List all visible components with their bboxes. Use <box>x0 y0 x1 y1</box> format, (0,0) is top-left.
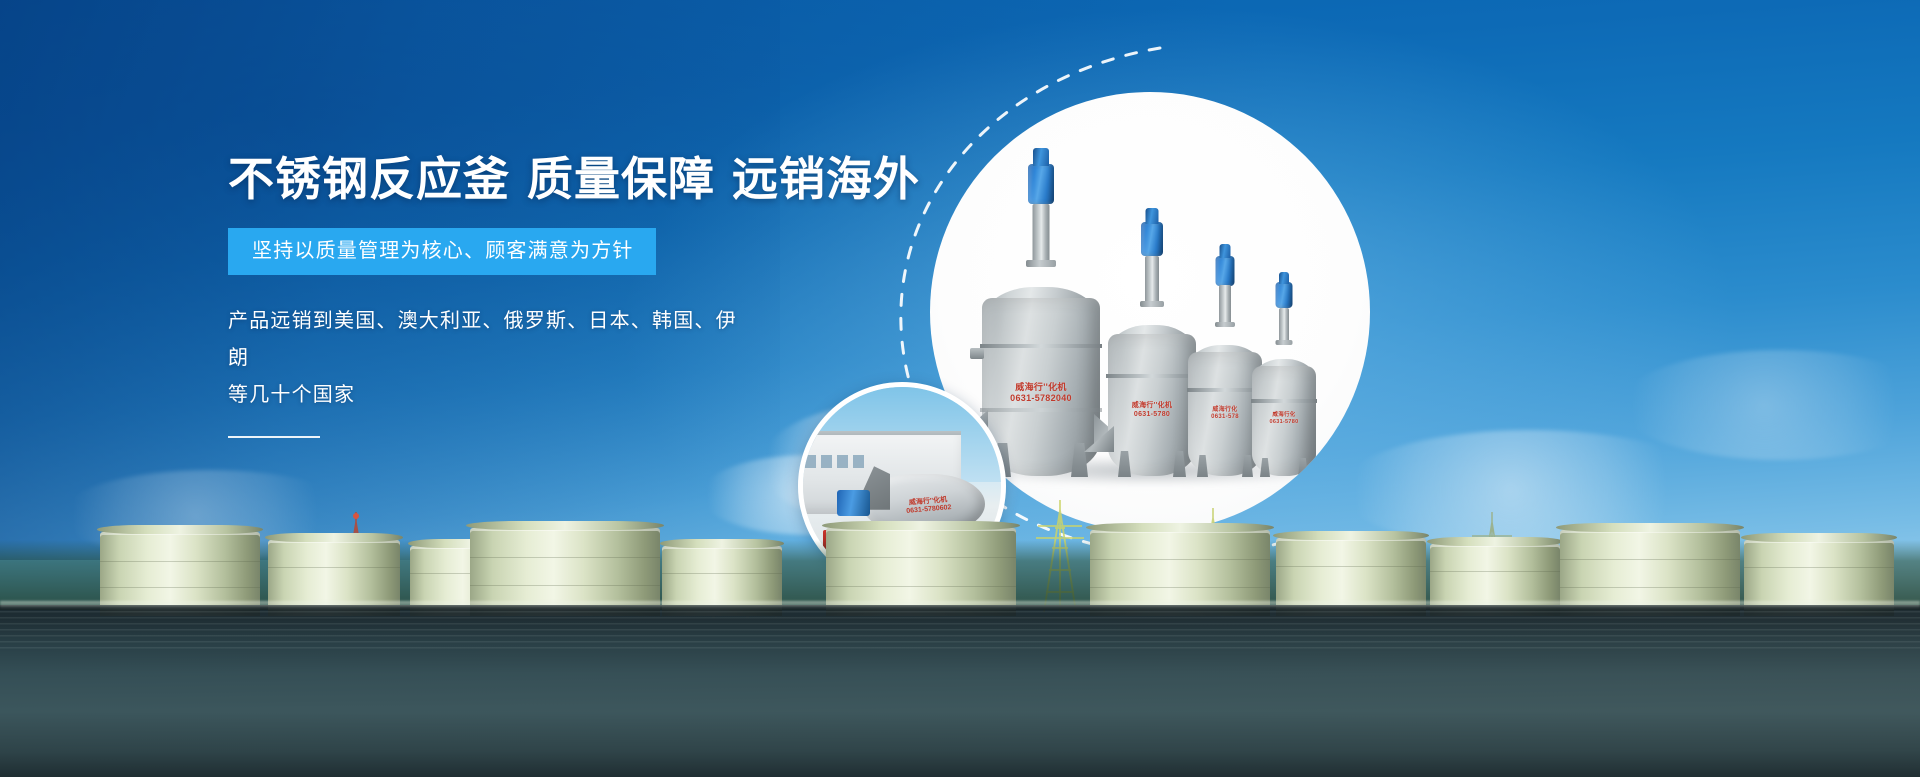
agitator-shaft <box>1219 285 1231 325</box>
vessel-label: 威海行化 0631-5780 <box>1269 412 1298 426</box>
vessel-label: 威海行化 0631-578 <box>1211 407 1239 422</box>
motor-cap <box>1033 148 1049 166</box>
description-line-2: 等几十个国家 <box>228 384 355 406</box>
nozzle <box>970 348 984 359</box>
motor-cap <box>1220 244 1231 258</box>
flange <box>1026 260 1056 267</box>
window <box>853 455 864 468</box>
banner-description: 产品远销到美国、澳大利亚、俄罗斯、日本、韩国、伊朗 等几十个国家 <box>228 303 748 414</box>
banner-copy: 不锈钢反应釜 质量保障 远销海外 坚持以质量管理为核心、顾客满意为方针 产品远销… <box>228 152 928 438</box>
slogan-bar: 坚持以质量管理为核心、顾客满意为方针 <box>228 228 656 275</box>
page-title: 不锈钢反应釜 质量保障 远销海外 <box>228 152 928 206</box>
flange <box>1276 340 1293 345</box>
window <box>821 455 832 468</box>
water-foreground <box>0 605 1920 777</box>
agitator-shaft <box>1033 204 1050 264</box>
vessel-body: 威海行化 0631-578 <box>1188 352 1262 476</box>
description-line-1: 产品远销到美国、澳大利亚、俄罗斯、日本、韩国、伊朗 <box>228 310 737 369</box>
motor-cap <box>1279 272 1289 284</box>
reactor-vessel: 威海行化 0631-578 <box>1188 352 1262 476</box>
motor-icon <box>1276 282 1293 308</box>
divider <box>228 436 320 438</box>
hero-banner: 威海行''化机 0631-5782040 <box>0 0 1920 777</box>
motor-icon <box>1028 164 1054 204</box>
window <box>837 455 848 468</box>
vessel-label: 威海行''化机 0631-5782040 <box>1010 382 1072 405</box>
motor-icon <box>1216 256 1235 286</box>
vessel-body: 威海行化 0631-5780 <box>1252 366 1316 476</box>
motor-cap <box>1146 208 1159 224</box>
flange <box>1215 322 1235 327</box>
reactor-vessel: 威海行''化机 0631-5780 <box>1108 334 1196 476</box>
agitator-shaft <box>1279 308 1289 342</box>
motor-icon <box>1141 222 1163 256</box>
flange <box>1140 301 1164 307</box>
agitator-shaft <box>1145 256 1159 304</box>
window <box>805 455 816 468</box>
reactor-vessel: 威海行化 0631-5780 <box>1252 366 1316 476</box>
vessel-label: 威海行''化机 0631-5780 <box>1132 402 1172 420</box>
cloud <box>1620 350 1920 460</box>
water-shimmer <box>0 605 1920 653</box>
